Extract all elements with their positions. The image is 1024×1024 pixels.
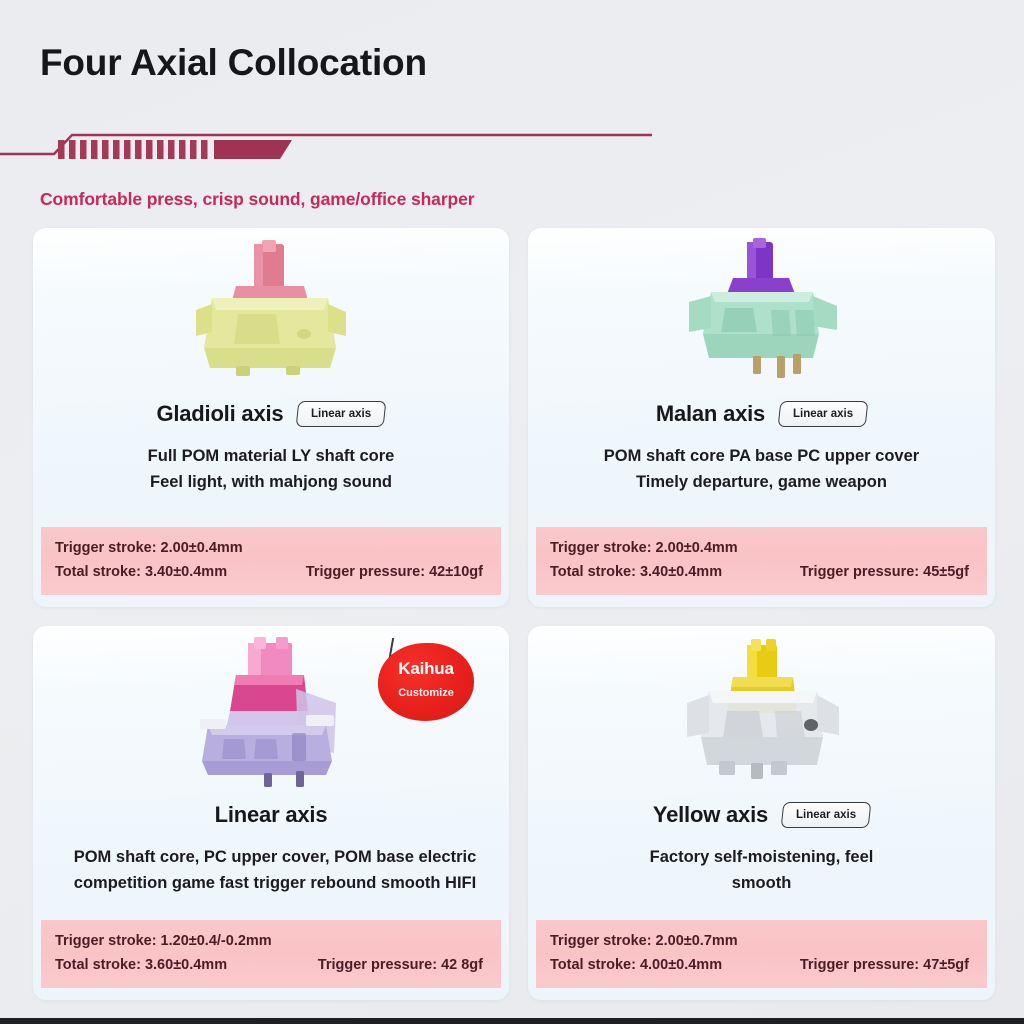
axis-type-tag: Linear axis <box>778 401 869 427</box>
spec-row-total-stroke: Total stroke: 4.00±0.4mm Trigger pressur… <box>550 954 973 977</box>
switch-description: POM shaft core, PC upper cover, POM base… <box>37 844 513 896</box>
desc-line: smooth <box>588 870 935 896</box>
switch-name-row: Gladioli axis Linear axis <box>33 397 509 431</box>
mechanical-switch-linear-icon <box>176 633 366 788</box>
spec-strip: Trigger stroke: 2.00±0.4mm Total stroke:… <box>41 527 501 595</box>
trigger-pressure-value: Trigger pressure: 47±5gf <box>800 954 973 977</box>
spec-strip: Trigger stroke: 1.20±0.4/-0.2mm Total st… <box>41 920 501 988</box>
switch-description: Factory self-moistening, feel smooth <box>528 844 995 896</box>
axis-type-tag: Linear axis <box>296 401 387 427</box>
switch-description: POM shaft core PA base PC upper cover Ti… <box>528 443 995 495</box>
total-stroke-value: Total stroke: 3.60±0.4mm <box>55 954 227 977</box>
axis-name: Malan axis <box>656 401 765 427</box>
header-decoration-rule <box>0 126 660 164</box>
total-stroke-value: Total stroke: 3.40±0.4mm <box>55 561 227 584</box>
spec-row-total-stroke: Total stroke: 3.40±0.4mm Trigger pressur… <box>55 561 487 584</box>
spec-strip: Trigger stroke: 2.00±0.4mm Total stroke:… <box>536 527 987 595</box>
trigger-stroke-value: Trigger stroke: 2.00±0.4mm <box>550 537 738 560</box>
switch-image-malan <box>528 228 995 393</box>
spec-row-trigger-stroke: Trigger stroke: 1.20±0.4/-0.2mm <box>55 930 487 953</box>
mechanical-switch-malan-icon <box>667 236 857 386</box>
spec-row-total-stroke: Total stroke: 3.60±0.4mm Trigger pressur… <box>55 954 487 977</box>
switch-description: Full POM material LY shaft core Feel lig… <box>33 443 509 495</box>
trigger-stroke-value: Trigger stroke: 2.00±0.7mm <box>550 930 738 953</box>
bottom-edge-bar <box>0 1018 1024 1024</box>
trigger-stroke-value: Trigger stroke: 2.00±0.4mm <box>55 537 243 560</box>
desc-line: Feel light, with mahjong sound <box>47 469 495 495</box>
badge-brand-label: Kaihua <box>378 659 474 679</box>
spec-row-trigger-stroke: Trigger stroke: 2.00±0.4mm <box>550 537 973 560</box>
stepped-bar-icon <box>0 126 660 164</box>
axis-name: Yellow axis <box>653 802 768 828</box>
switch-image-yellow <box>528 626 995 794</box>
total-stroke-value: Total stroke: 3.40±0.4mm <box>550 561 722 584</box>
mechanical-switch-yellow-icon <box>667 633 857 788</box>
page-title: Four Axial Collocation <box>40 42 427 84</box>
spec-row-trigger-stroke: Trigger stroke: 2.00±0.4mm <box>55 537 487 560</box>
trigger-stroke-value: Trigger stroke: 1.20±0.4/-0.2mm <box>55 930 272 953</box>
axis-name: Gladioli axis <box>156 401 283 427</box>
switch-name-row: Yellow axis Linear axis <box>528 798 995 832</box>
spec-row-trigger-stroke: Trigger stroke: 2.00±0.7mm <box>550 930 973 953</box>
axis-name: Linear axis <box>215 802 328 828</box>
switch-card-grid: Gladioli axis Linear axis Full POM mater… <box>33 228 995 1000</box>
trigger-pressure-value: Trigger pressure: 42 8gf <box>318 954 487 977</box>
header-subtitle: Comfortable press, crisp sound, game/off… <box>40 189 474 210</box>
badge-ellipse-shape <box>378 643 474 721</box>
switch-name-row: Linear axis <box>33 798 509 832</box>
switch-card-gladioli[interactable]: Gladioli axis Linear axis Full POM mater… <box>33 228 509 607</box>
kaihua-customize-badge: Kaihua Customize <box>378 643 474 721</box>
switch-card-malan[interactable]: Malan axis Linear axis POM shaft core PA… <box>528 228 995 607</box>
desc-line: POM shaft core PA base PC upper cover <box>542 443 981 469</box>
desc-line: POM shaft core, PC upper cover, POM base… <box>37 844 513 870</box>
axis-type-tag: Linear axis <box>781 802 872 828</box>
trigger-pressure-value: Trigger pressure: 45±5gf <box>800 561 973 584</box>
spec-strip: Trigger stroke: 2.00±0.7mm Total stroke:… <box>536 920 987 988</box>
switch-name-row: Malan axis Linear axis <box>528 397 995 431</box>
desc-line: Full POM material LY shaft core <box>47 443 495 469</box>
badge-sub-label: Customize <box>378 687 474 699</box>
trigger-pressure-value: Trigger pressure: 42±10gf <box>306 561 487 584</box>
mechanical-switch-gladioli-icon <box>176 236 366 386</box>
desc-line: Timely departure, game weapon <box>542 469 981 495</box>
switch-image-gladioli <box>33 228 509 393</box>
spec-row-total-stroke: Total stroke: 3.40±0.4mm Trigger pressur… <box>550 561 973 584</box>
desc-line: competition game fast trigger rebound sm… <box>37 870 513 896</box>
desc-line: Factory self-moistening, feel <box>588 844 935 870</box>
switch-card-yellow[interactable]: Yellow axis Linear axis Factory self-moi… <box>528 626 995 1000</box>
total-stroke-value: Total stroke: 4.00±0.4mm <box>550 954 722 977</box>
